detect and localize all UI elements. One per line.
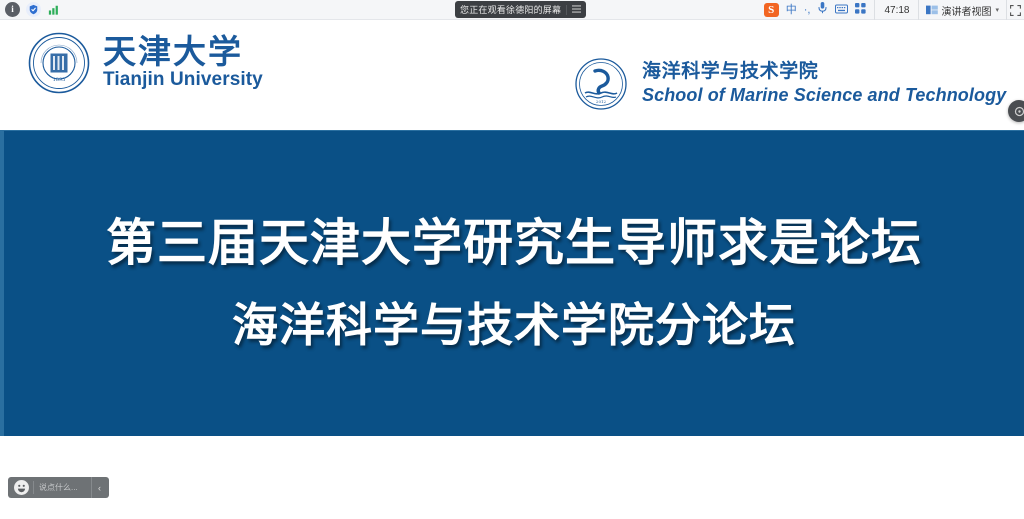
marine-school-seal: 2012 (575, 58, 627, 110)
svg-text:2012: 2012 (596, 99, 607, 104)
shield-icon[interactable] (26, 2, 41, 17)
slide-footer-area: 说点什么... ‹ (0, 436, 1024, 519)
presenter-view-icon (926, 5, 937, 15)
screen-share-view: 您正在观看徐德阳的屏幕 S 中 ·, (0, 0, 1024, 519)
school-name-cn: 海洋科学与技术学院 (642, 61, 1006, 84)
info-icon[interactable] (5, 2, 20, 17)
ime-mode-toggle[interactable]: 中 (786, 5, 797, 16)
chat-input-bar[interactable]: 说点什么... ‹ (8, 477, 109, 498)
tianjin-university-logo: 1895 天津大学 Tianjin University (28, 32, 263, 94)
top-bar-right-cluster: S 中 ·, (756, 0, 1024, 20)
grid-toolbox-icon[interactable] (855, 1, 866, 19)
slide-title-line-1: 第三届天津大学研究生导师求是论坛 (106, 203, 922, 275)
screen-share-notice[interactable]: 您正在观看徐德阳的屏幕 (455, 1, 586, 18)
chat-input[interactable]: 说点什么... (33, 481, 91, 494)
session-timer: 47:18 (874, 0, 918, 20)
banner-title-group: 第三届天津大学研究生导师求是论坛 海洋科学与技术学院分论坛 (4, 131, 1024, 436)
slide-title-line-2: 海洋科学与技术学院分论坛 (232, 289, 796, 355)
school-name-en: School of Marine Science and Technology (642, 85, 1006, 107)
system-top-bar: 您正在观看徐德阳的屏幕 S 中 ·, (0, 0, 1024, 20)
sogou-logo-icon[interactable]: S (764, 3, 779, 17)
chevron-down-icon[interactable]: ▾ (995, 6, 999, 14)
tju-name-cn: 天津大学 (103, 35, 263, 70)
share-notice-text: 您正在观看徐德阳的屏幕 (460, 3, 561, 16)
tianjin-university-wordmark: 天津大学 Tianjin University (103, 35, 263, 92)
circle-handle-icon[interactable] (1008, 100, 1024, 122)
tju-name-en: Tianjin University (103, 70, 263, 91)
marine-school-wordmark: 海洋科学与技术学院 School of Marine Science and T… (642, 61, 1006, 106)
marine-school-logo: 2012 海洋科学与技术学院 School of Marine Science … (575, 58, 1006, 110)
svg-text:1895: 1895 (53, 77, 66, 83)
ime-punctuation-toggle[interactable]: ·, (804, 5, 811, 16)
view-mode-label: 演讲者视图 (941, 3, 991, 18)
sogou-ime-toolbar: S 中 ·, (756, 0, 875, 20)
smiley-icon[interactable] (14, 480, 29, 495)
fullscreen-icon[interactable] (1006, 0, 1024, 20)
view-mode-selector[interactable]: 演讲者视图 ▾ (918, 0, 1006, 20)
chevron-left-icon[interactable]: ‹ (91, 477, 107, 498)
top-bar-left-icons (0, 2, 62, 17)
keyboard-icon[interactable] (835, 1, 848, 19)
microphone-icon[interactable] (817, 1, 828, 19)
tianjin-university-seal: 1895 (28, 32, 90, 94)
slide-header: 1895 天津大学 Tianjin University 2012 (0, 20, 1024, 130)
hamburger-menu-icon[interactable] (566, 5, 581, 15)
signal-bars-icon[interactable] (47, 2, 62, 17)
presentation-slide-banner: 第三届天津大学研究生导师求是论坛 海洋科学与技术学院分论坛 (0, 130, 1024, 436)
